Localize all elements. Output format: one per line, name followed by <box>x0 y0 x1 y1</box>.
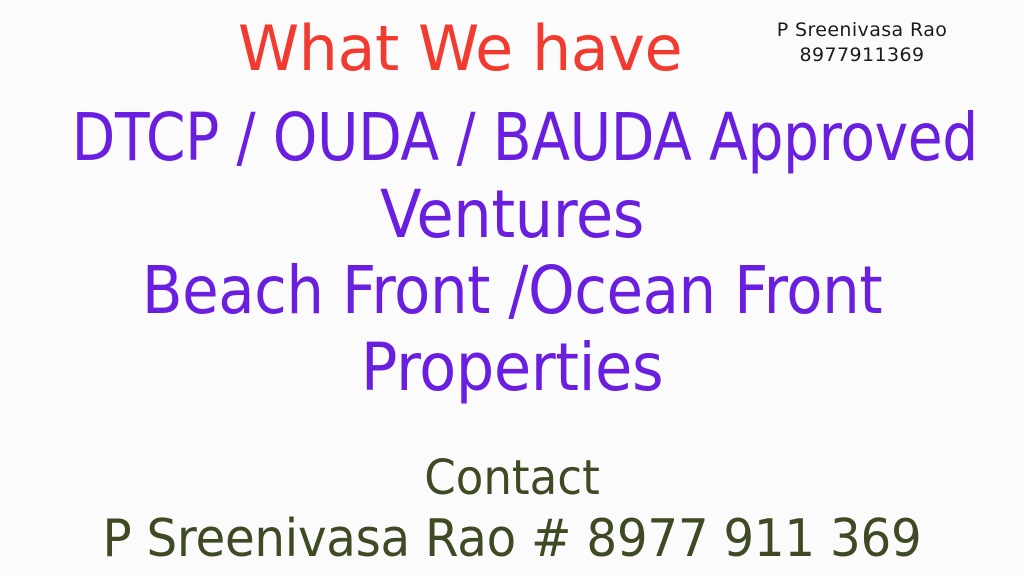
contact-block: Contact P Sreenivasa Rao # 8977 911 369 <box>0 450 1024 570</box>
offering-headline-block: DTCP / OUDA / BAUDA Approved Ventures Be… <box>0 100 1024 406</box>
promo-slide: P Sreenivasa Rao 8977911369 What We have… <box>0 0 1024 576</box>
offering-line-ventures: Ventures <box>41 177 983 254</box>
offering-line-properties: Properties <box>41 330 983 407</box>
contact-label: Contact <box>31 450 994 508</box>
contact-details: P Sreenivasa Rao # 8977 911 369 <box>36 508 988 570</box>
offering-line-beachfront: Beach Front /Ocean Front <box>51 253 973 330</box>
page-title: What We have <box>0 12 920 85</box>
offering-line-approvals: DTCP / OUDA / BAUDA Approved <box>72 100 953 177</box>
